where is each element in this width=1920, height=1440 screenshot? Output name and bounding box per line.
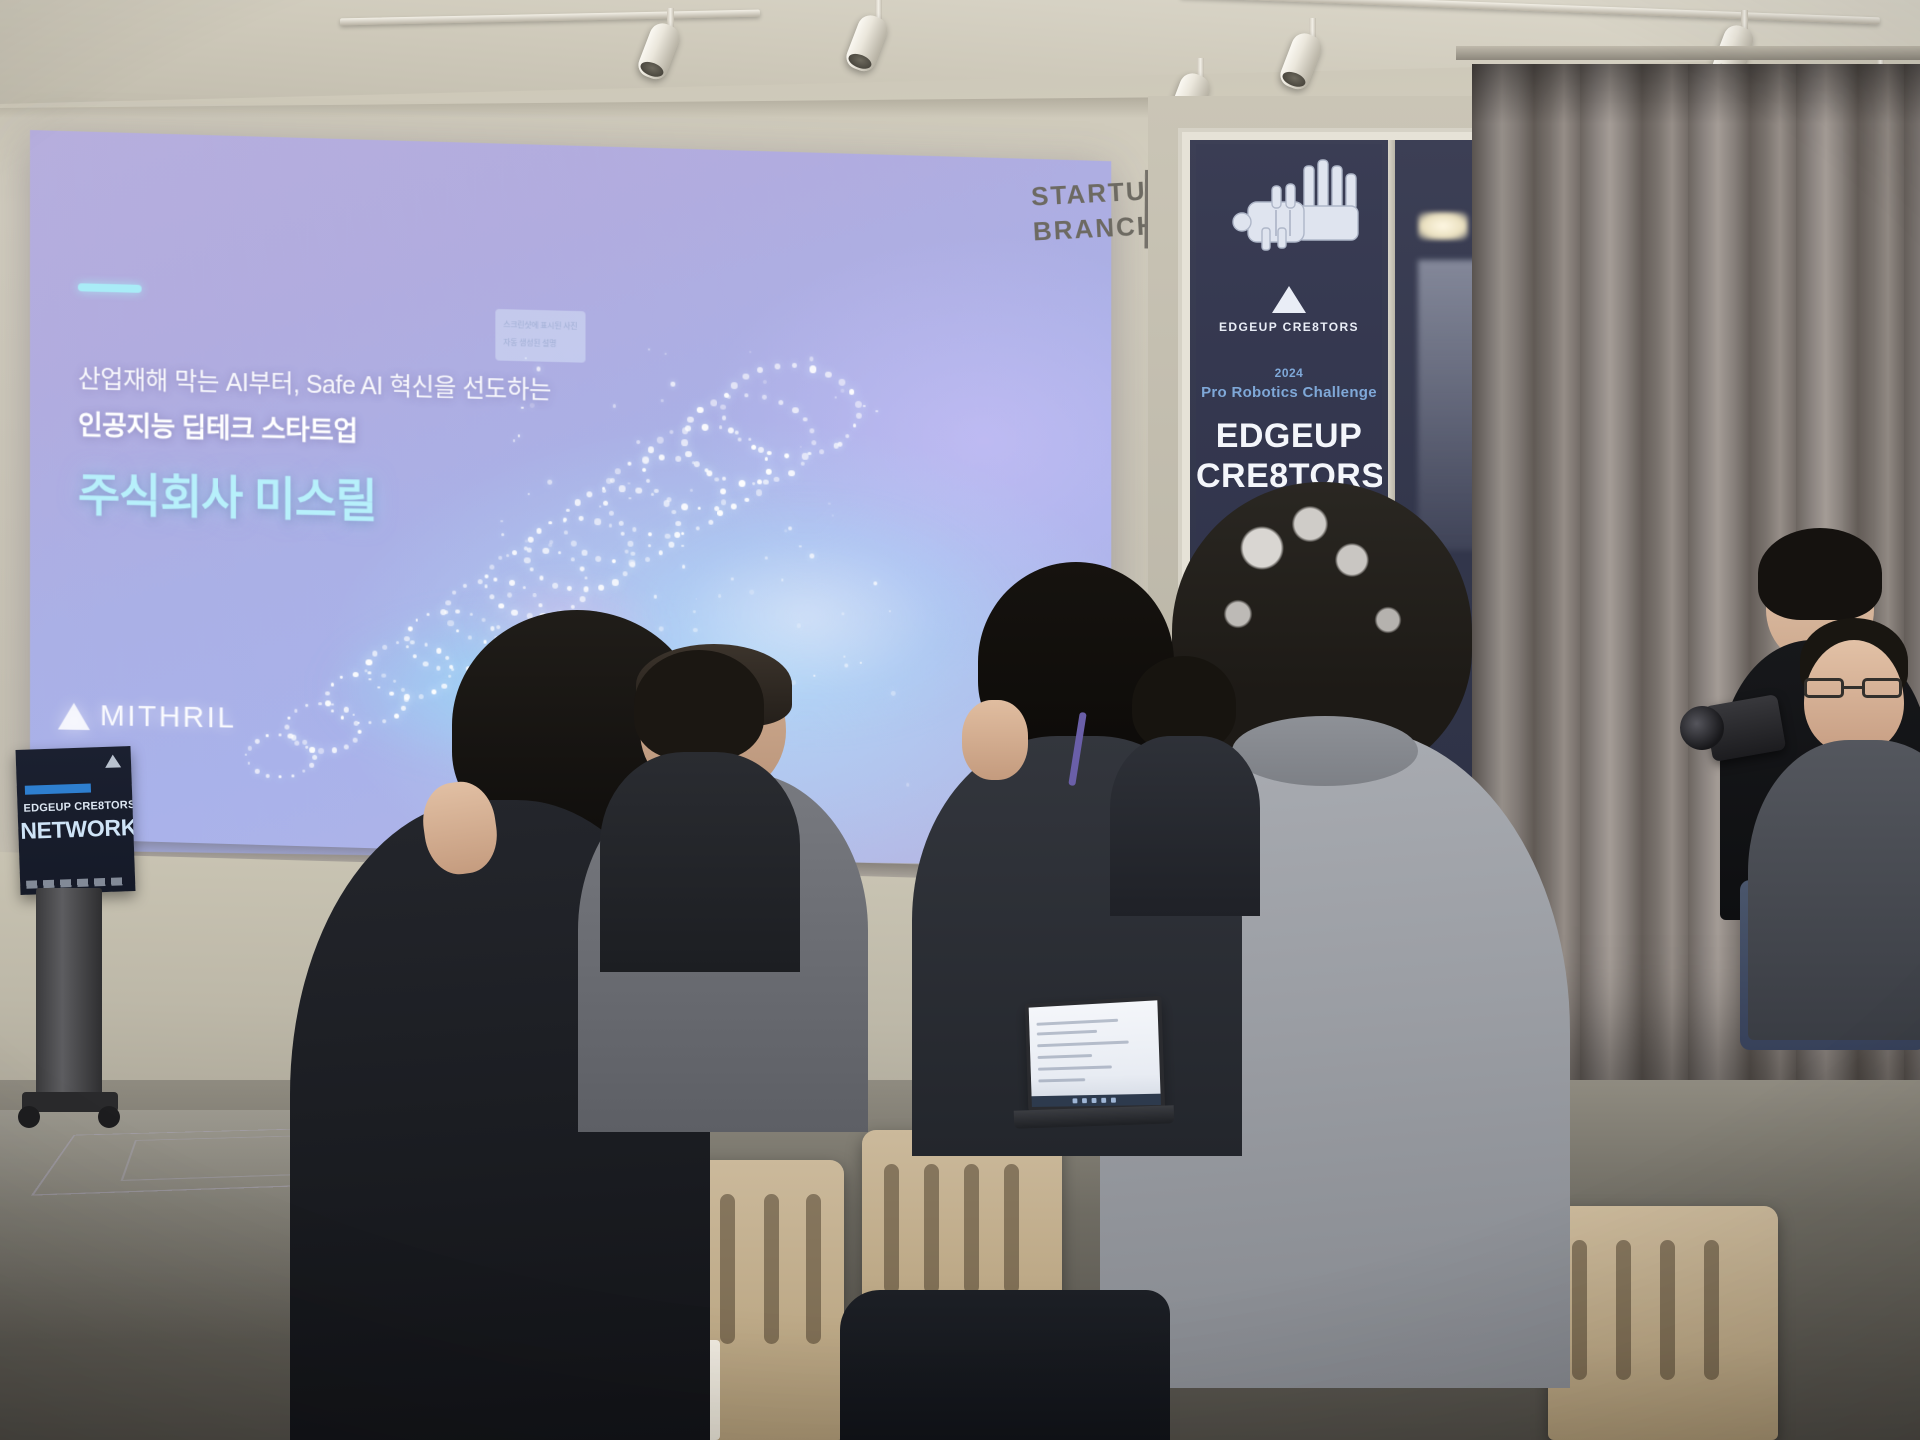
center-right-hand [962, 700, 1028, 780]
edgeup-logo-text: EDGEUP CRE8TORS [1196, 320, 1382, 334]
edgeup-logo-icon [1272, 286, 1306, 313]
banner-challenge-subtitle: Pro Robotics Challenge [1196, 384, 1382, 401]
taskbar-icon[interactable] [1092, 1098, 1097, 1103]
laptop-text-line [1037, 1030, 1097, 1036]
chair-slat [884, 1164, 899, 1294]
tooltip-line-1: 스크린샷에 표시된 사진 [503, 316, 577, 336]
curtain-top-shadow [1472, 64, 1920, 124]
taskbar-icon[interactable] [1082, 1098, 1087, 1103]
chair-slat [924, 1164, 939, 1294]
behind-left-hair [634, 650, 764, 760]
eyeglasses-icon [1804, 678, 1902, 698]
chair-slat [1660, 1240, 1675, 1380]
center-back-torso [1110, 736, 1260, 916]
rollup-banner-stand [36, 888, 102, 1103]
behind-left-torso [600, 752, 800, 972]
caster-wheel-left [18, 1106, 40, 1128]
chair-slat [806, 1194, 821, 1344]
slide-accent-rule [78, 283, 142, 293]
rollup-tagline-bar [25, 783, 91, 794]
mithril-logo-icon [58, 703, 90, 731]
mithril-logo-text: MITHRIL [100, 699, 237, 735]
chair-right[interactable] [1548, 1206, 1778, 1440]
robot-hand-icon [1218, 158, 1364, 278]
slide-kicker-text: 산업재해 막는 AI부터, Safe AI 혁신을 선도하는 [78, 359, 551, 406]
tooltip-line-2: 자동 생성된 설명 [503, 334, 577, 354]
corridor-light-reflection [1418, 212, 1468, 240]
chair-slat [1616, 1240, 1631, 1380]
laptop-text-line [1038, 1078, 1085, 1082]
chair-slat [764, 1194, 779, 1344]
chair-slat [1704, 1240, 1719, 1380]
laptop-taskbar [1032, 1094, 1161, 1107]
right-grey-collar [1232, 716, 1418, 786]
caster-wheel-right [98, 1106, 120, 1128]
banner-year: 2024 [1196, 366, 1382, 380]
laptop-text-line [1038, 1065, 1112, 1070]
slide-subtitle-text: 인공지능 딥테크 스타트업 [78, 403, 357, 448]
laptop-text-line [1036, 1019, 1118, 1026]
rollup-line-1: EDGEUP CRE8TORS 2기 [23, 795, 135, 816]
laptop-screen[interactable] [1025, 996, 1165, 1111]
chair-slat [1572, 1240, 1587, 1380]
chair-slat [964, 1164, 979, 1294]
taskbar-icon[interactable] [1111, 1098, 1116, 1103]
chair-slat [1004, 1164, 1019, 1294]
rollup-line-2: NETWORKING DAY [20, 811, 136, 845]
laptop-text-line [1038, 1054, 1093, 1059]
banner-title-line1: EDGEUP [1196, 416, 1382, 456]
slide-alt-text-tooltip: 스크린샷에 표시된 사진 자동 생성된 설명 [495, 309, 585, 363]
photographer-hair [1758, 528, 1882, 620]
taskbar-icon[interactable] [1101, 1098, 1106, 1103]
taskbar-icon[interactable] [1073, 1098, 1078, 1103]
draped-coat [840, 1290, 1170, 1440]
laptop-text-line [1037, 1041, 1129, 1048]
rollup-banner: EDGEUP CRE8TORS 2기 NETWORKING DAY [16, 746, 136, 895]
chair-slat [720, 1194, 735, 1344]
presentation-room-scene: 산업재해 막는 AI부터, Safe AI 혁신을 선도하는 인공지능 딥테크 … [0, 0, 1920, 1440]
far-right-torso [1748, 740, 1920, 1040]
slide-headline-text: 주식회사 미스릴 [78, 458, 376, 530]
rollup-logo-icon [105, 754, 121, 768]
curtain-rod [1456, 46, 1920, 60]
